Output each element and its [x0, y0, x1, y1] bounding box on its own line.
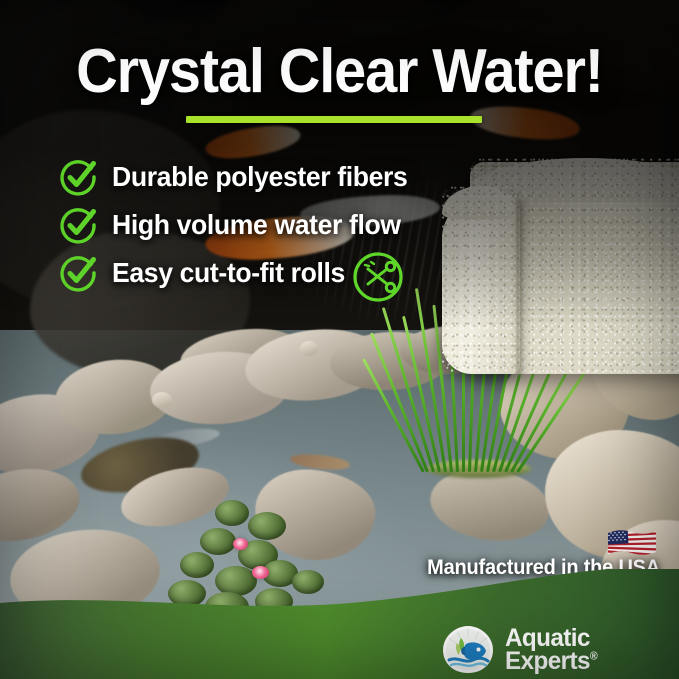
feature-label: High volume water flow [112, 209, 401, 241]
feature-label: Easy cut-to-fit rolls [112, 257, 345, 289]
feature-item: High volume water flow [58, 200, 498, 250]
circle-check-icon [58, 253, 98, 293]
headline-underline [186, 116, 482, 123]
scissors-icon [352, 251, 404, 303]
us-flag-icon [606, 528, 658, 560]
feature-list: Durable polyester fibers High volume wat… [58, 152, 498, 298]
brand-name-line2: Experts® [505, 650, 597, 674]
headline: Crystal Clear Water! [24, 40, 655, 103]
product-marketing-image: Crystal Clear Water! Durable polyester f… [0, 0, 679, 679]
brand-logo: Aquatic Experts® [440, 624, 600, 676]
circle-check-icon [58, 157, 98, 197]
circle-check-icon [58, 205, 98, 245]
aquatic-experts-fish-badge-icon [440, 624, 496, 676]
feature-item: Easy cut-to-fit rolls [58, 248, 498, 298]
feature-item: Durable polyester fibers [58, 152, 498, 202]
registered-mark: ® [590, 651, 597, 663]
feature-label: Durable polyester fibers [112, 161, 407, 193]
brand-name: Aquatic Experts® [505, 627, 597, 674]
